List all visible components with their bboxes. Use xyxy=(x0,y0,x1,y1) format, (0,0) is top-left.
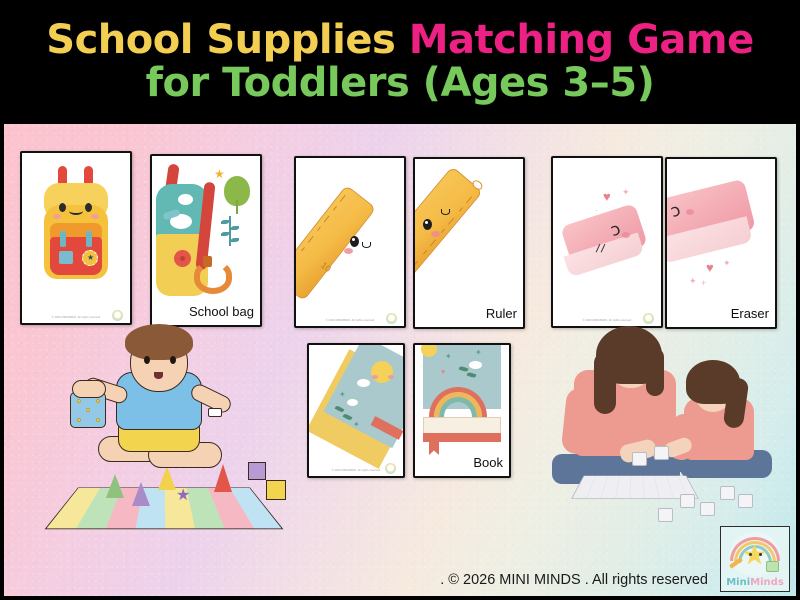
eraser-illustration: ɔ ♥ ✦ · xyxy=(553,158,661,326)
card-label-school-bag: School bag xyxy=(189,304,254,319)
copyright-footer: . © 2026 MINI MINDS . All rights reserve… xyxy=(440,572,708,588)
eraser-picture-card[interactable]: ɔ ♥ ✦ · © 2026 MINIMINDS. All rights res… xyxy=(551,156,663,328)
card-label-eraser: Eraser xyxy=(731,306,769,321)
card-credit-logo-icon xyxy=(386,313,397,324)
brand-logo: MiniMinds xyxy=(720,526,790,592)
poster-body: ★ © 2026 MINIMINDS. All rights reserved … xyxy=(4,124,796,596)
ruler-picture-card[interactable]: 10 © 2026 MINIMINDS. All rights reserved xyxy=(294,156,406,328)
book-word-card[interactable]: ✦ ✦ ♥ Book xyxy=(413,343,511,478)
ruler-illustration xyxy=(415,159,523,327)
ruler-illustration: 10 xyxy=(296,158,404,326)
card-credit-logo-icon xyxy=(385,463,396,474)
card-label-book: Book xyxy=(473,455,503,470)
boy-playing-board-game-illustration: ★ xyxy=(40,324,290,564)
school-bag-word-card[interactable]: ★ School bag xyxy=(150,154,262,327)
card-credit-logo-icon xyxy=(643,313,654,324)
card-credit-text: © 2026 MINIMINDS. All rights reserved xyxy=(326,319,375,322)
card-credit-logo-icon xyxy=(112,310,123,321)
backpack-illustration: ★ xyxy=(22,153,130,323)
book-illustration: ✦ ✦ xyxy=(309,345,403,476)
eraser-word-card[interactable]: ɔ ♥ ✦ ✦ + Eraser xyxy=(665,157,777,329)
school-bag-picture-card[interactable]: ★ © 2026 MINIMINDS. All rights reserved xyxy=(20,151,132,325)
sling-bag-illustration: ★ xyxy=(152,156,260,325)
card-credit-text: © 2026 MINIMINDS. All rights reserved xyxy=(583,319,632,322)
brand-name: MiniMinds xyxy=(726,578,784,588)
ruler-word-card[interactable]: Ruler xyxy=(413,157,525,329)
page-title-line-2: for Toddlers (Ages 3–5) xyxy=(146,63,655,104)
mother-and-daughter-puzzle-illustration xyxy=(534,326,796,556)
title-segment-school-supplies: School Supplies xyxy=(46,17,408,63)
title-band: School Supplies Matching Game for Toddle… xyxy=(0,0,800,124)
card-credit-text: © 2026 MINIMINDS. All rights reserved xyxy=(332,469,381,472)
poster-canvas: School Supplies Matching Game for Toddle… xyxy=(0,0,800,600)
brand-name-part1: Mini xyxy=(726,577,750,588)
book-picture-card[interactable]: ✦ ✦ © 2026 MINIMINDS. All rights reserve… xyxy=(307,343,405,478)
card-label-ruler: Ruler xyxy=(486,306,517,321)
brand-name-part2: Minds xyxy=(750,577,784,588)
eraser-illustration: ɔ ♥ ✦ ✦ + xyxy=(667,159,775,327)
blocks-icon xyxy=(766,561,779,572)
title-segment-matching-game: Matching Game xyxy=(409,17,754,63)
page-title-line-1: School Supplies Matching Game xyxy=(46,20,753,61)
card-credit-text: © 2026 MINIMINDS. All rights reserved xyxy=(52,316,101,319)
